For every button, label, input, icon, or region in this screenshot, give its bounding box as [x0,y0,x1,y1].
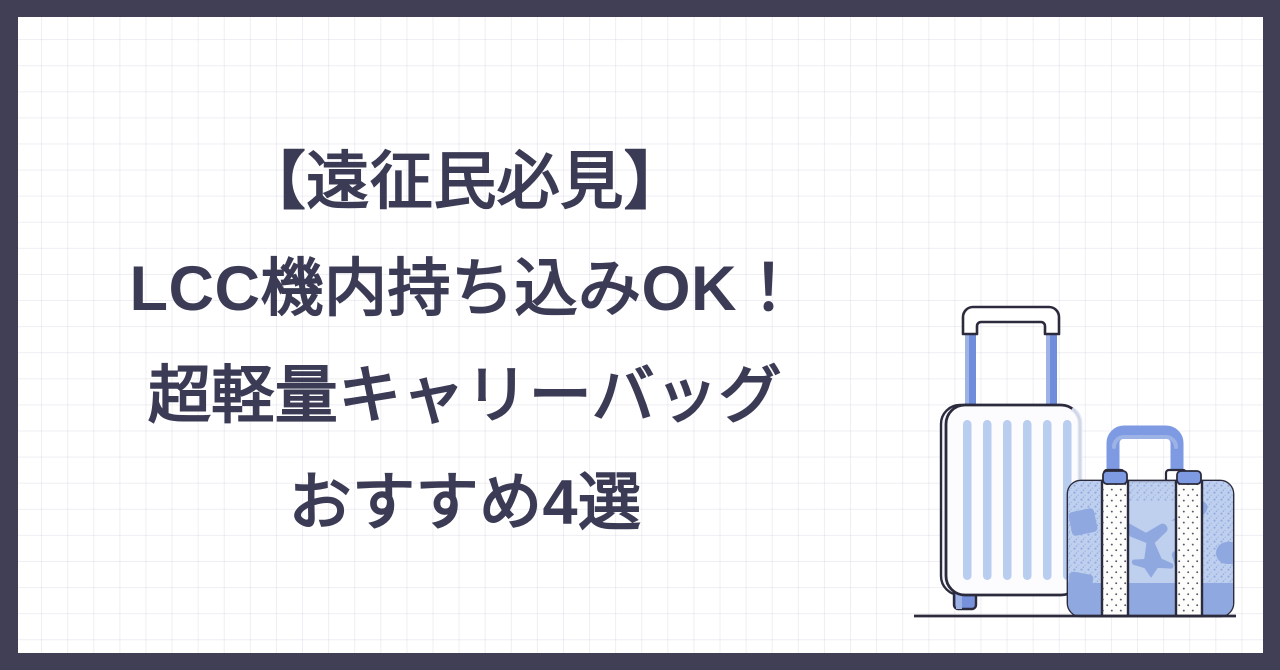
strap-buckle-right-icon [1177,471,1201,484]
case-base-band-icon [1068,583,1233,616]
page-title: 【遠征民必見】 LCC機内持ち込みOK！ 超軽量キャリーバッグ おすすめ4選 [60,129,870,557]
two-suitcases-illustration [898,295,1243,635]
handle-poles-icon [965,330,1057,412]
vintage-suitcase-icon [1066,432,1235,616]
headline-line-1: 【遠征民必見】 [60,129,870,236]
eyecatch-card: 【遠征民必見】 LCC機内持ち込みOK！ 超軽量キャリーバッグ おすすめ4選 [0,0,1280,670]
headline-line-4: おすすめ4選 [60,450,870,557]
rolling-suitcase-icon [941,307,1080,609]
grid-paper-canvas: 【遠征民必見】 LCC機内持ち込みOK！ 超軽量キャリーバッグ おすすめ4選 [18,17,1263,653]
strap-left-icon [1102,471,1128,616]
strap-right-icon [1176,471,1202,616]
telescoping-handle-icon [963,307,1059,334]
worn-edge-top-icon [1068,481,1233,501]
headline-line-3: 超軽量キャリーバッグ [60,343,870,450]
strap-buckle-left-icon [1103,471,1127,484]
headline-line-2: LCC機内持ち込みOK！ [60,236,870,343]
